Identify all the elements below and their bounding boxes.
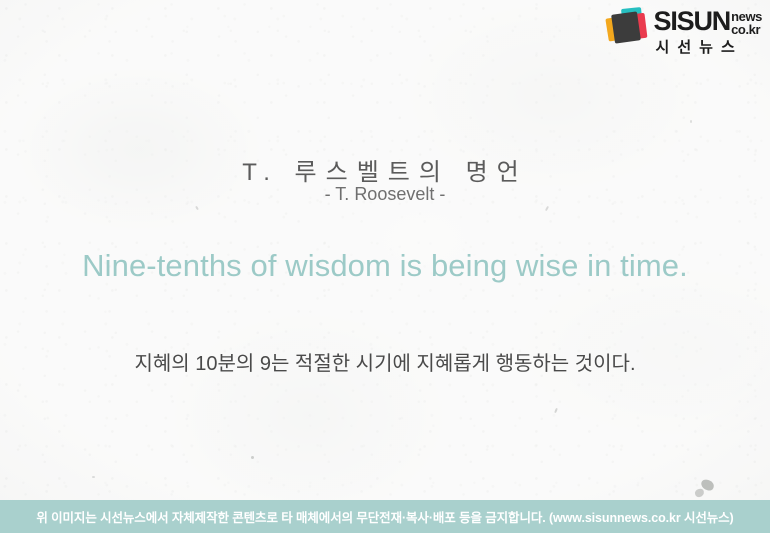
quote-translation: 지혜의 10분의 9는 적절한 시기에 지혜롭게 행동하는 것이다. xyxy=(0,347,770,376)
quote-card: SISUN news co.kr 시선뉴스 T. 루스벨트의 명언 - T. R… xyxy=(0,0,770,533)
copyright-notice-text: 위 이미지는 시선뉴스에서 자체제작한 콘텐츠로 타 매체에서의 무단전재·복사… xyxy=(36,507,733,526)
quote-text: Nine-tenths of wisdom is being wise in t… xyxy=(0,248,770,284)
author-subtitle: - T. Roosevelt - xyxy=(0,184,770,205)
page-title: T. 루스벨트의 명언 xyxy=(0,152,770,187)
quote-content: T. 루스벨트의 명언 - T. Roosevelt - Nine-tenths… xyxy=(0,0,770,533)
copyright-footer-bar: 위 이미지는 시선뉴스에서 자체제작한 콘텐츠로 타 매체에서의 무단전재·복사… xyxy=(0,500,770,533)
